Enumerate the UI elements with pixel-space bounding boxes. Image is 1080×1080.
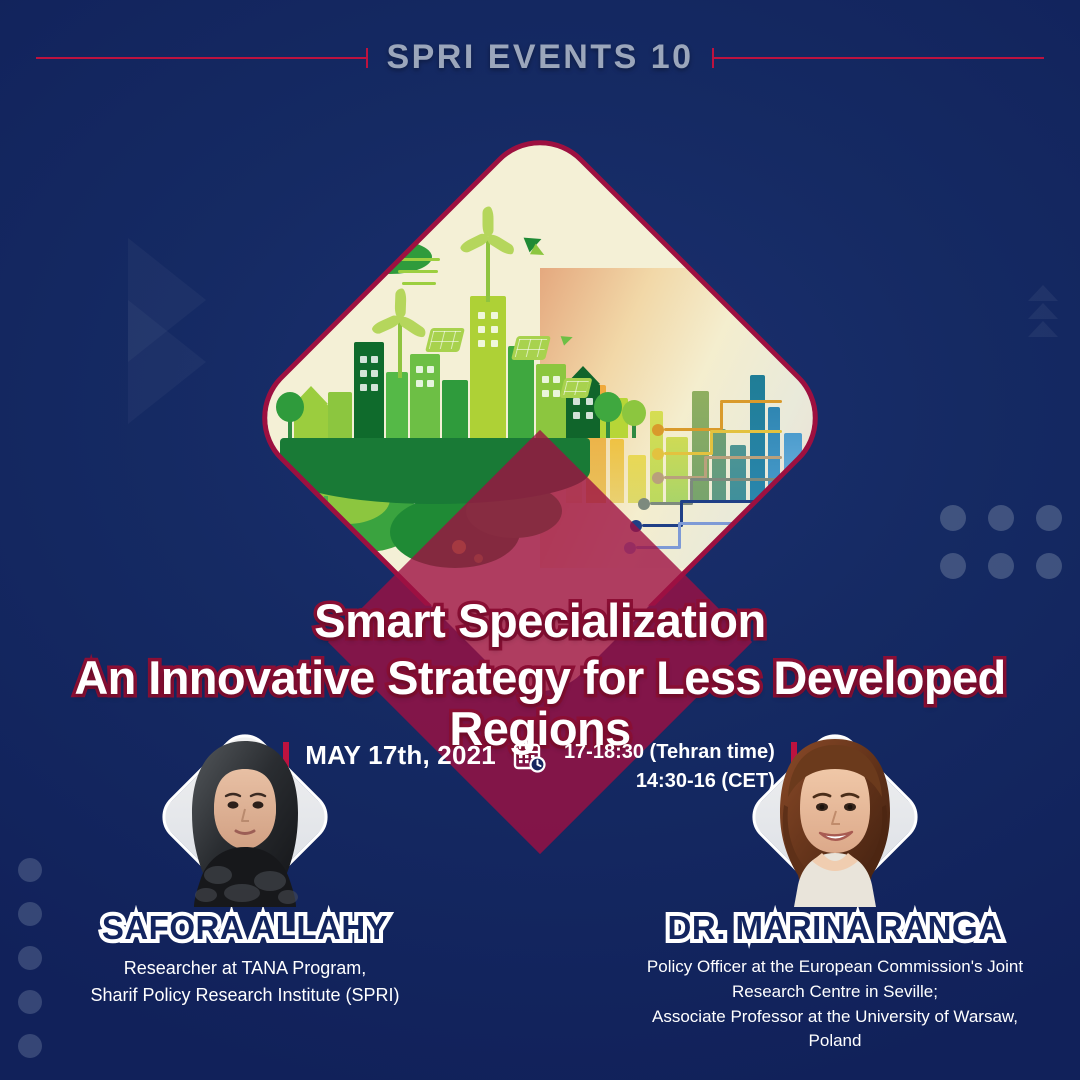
chevron-right-decoration-2: [128, 300, 206, 424]
speaker-role-line-2: Associate Professor at the University of…: [625, 1005, 1045, 1054]
dot: [988, 553, 1014, 579]
dot: [1036, 553, 1062, 579]
speaker-role-line-1: Researcher at TANA Program,: [35, 955, 455, 981]
speaker-role-line-1: Policy Officer at the European Commissio…: [625, 955, 1045, 1004]
speaker-role: Researcher at TANA Program, Sharif Polic…: [35, 955, 455, 1007]
dot-grid-right: [940, 505, 1062, 579]
speaker-role: Policy Officer at the European Commissio…: [625, 955, 1045, 1054]
chevron-up-icon: [1028, 303, 1058, 319]
header-rule-right: [714, 57, 1044, 59]
chevron-up-icon: [1028, 285, 1058, 301]
speaker-photo: [170, 735, 320, 907]
title-block: Smart Specialization An Innovative Strat…: [0, 596, 1080, 754]
header-rule-left: [36, 57, 366, 59]
dot: [988, 505, 1014, 531]
header-title: SPRI EVENTS 10: [368, 38, 711, 77]
dot: [1036, 505, 1062, 531]
speaker-card: SAFORA ALLAHY Researcher at TANA Program…: [35, 735, 455, 1054]
speakers-row: SAFORA ALLAHY Researcher at TANA Program…: [0, 735, 1080, 1054]
title-line-1: Smart Specialization: [0, 596, 1080, 647]
speaker-photo-wrap: [35, 735, 455, 915]
speaker-photo: [760, 735, 910, 907]
poster-header: SPRI EVENTS 10: [0, 38, 1080, 77]
event-poster: SPRI EVENTS 10: [0, 0, 1080, 1080]
speaker-card: DR. MARINA RANGA Policy Officer at the E…: [625, 735, 1045, 1054]
dot: [940, 553, 966, 579]
bird-icon: [291, 338, 305, 351]
dot: [940, 505, 966, 531]
chevron-up-icon: [1028, 321, 1058, 337]
speaker-photo-wrap: [625, 735, 1045, 915]
speaker-role-line-2: Sharif Policy Research Institute (SPRI): [35, 982, 455, 1008]
chevron-up-decoration-group: [1028, 285, 1058, 337]
